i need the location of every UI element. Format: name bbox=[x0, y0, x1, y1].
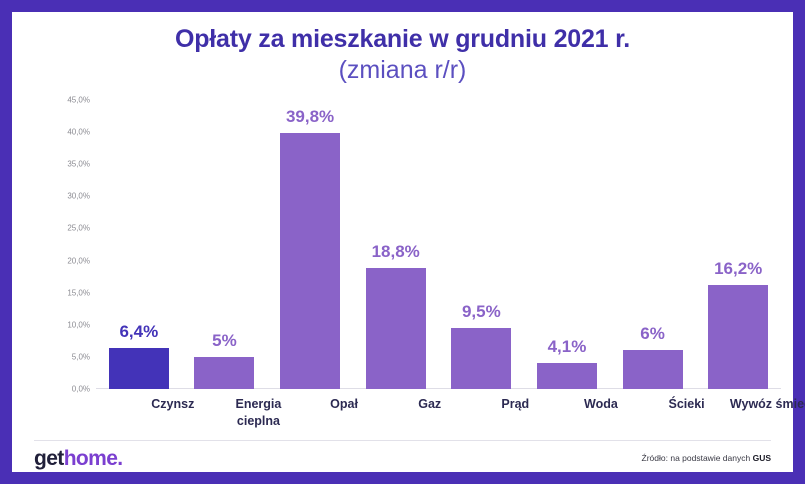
logo-text-get: get bbox=[34, 447, 64, 470]
y-axis: 0,0%5,0%10,0%15,0%20,0%25,0%30,0%35,0%40… bbox=[46, 100, 90, 389]
footer: gethome. Źródło: na podstawie danych GUS bbox=[12, 441, 793, 472]
bar-group: 6,4% bbox=[96, 100, 182, 389]
bar-value-label: 6% bbox=[640, 324, 665, 344]
x-axis-category-line: cieplna bbox=[206, 413, 312, 430]
bar[interactable] bbox=[366, 268, 426, 389]
source-note-org: GUS bbox=[753, 453, 771, 463]
chart-subtitle: (zmiana r/r) bbox=[12, 55, 793, 86]
y-axis-tick-label: 40,0% bbox=[46, 128, 90, 137]
bar[interactable] bbox=[623, 350, 683, 389]
bar-value-label: 9,5% bbox=[462, 302, 501, 322]
bar-value-label: 4,1% bbox=[548, 337, 587, 357]
chart-title-block: Opłaty za mieszkanie w grudniu 2021 r. (… bbox=[12, 24, 793, 85]
y-axis-tick-label: 20,0% bbox=[46, 256, 90, 265]
y-axis-tick-label: 30,0% bbox=[46, 192, 90, 201]
bar-value-label: 6,4% bbox=[119, 322, 158, 342]
gethome-logo[interactable]: gethome. bbox=[34, 447, 123, 471]
bar-value-label: 39,8% bbox=[286, 107, 334, 127]
x-axis-category-line: Wywóz śmieci bbox=[719, 396, 805, 413]
bar-group: 16,2% bbox=[695, 100, 781, 389]
bar-group: 5% bbox=[182, 100, 268, 389]
bars-container: 6,4%5%39,8%18,8%9,5%4,1%6%16,2% bbox=[96, 100, 781, 389]
chart-plot-area: 0,0%5,0%10,0%15,0%20,0%25,0%30,0%35,0%40… bbox=[46, 100, 781, 400]
y-axis-tick-label: 35,0% bbox=[46, 160, 90, 169]
bar[interactable] bbox=[451, 328, 511, 389]
bar-group: 4,1% bbox=[524, 100, 610, 389]
bar-value-label: 5% bbox=[212, 331, 237, 351]
y-axis-tick-label: 45,0% bbox=[46, 96, 90, 105]
bar-value-label: 18,8% bbox=[372, 242, 420, 262]
bar-group: 9,5% bbox=[439, 100, 525, 389]
y-axis-tick-label: 5,0% bbox=[46, 352, 90, 361]
page-title: Opłaty za mieszkanie w grudniu 2021 r. bbox=[12, 24, 793, 55]
logo-text-home: home. bbox=[64, 447, 123, 470]
bar-group: 18,8% bbox=[353, 100, 439, 389]
bar[interactable] bbox=[109, 348, 169, 389]
bar[interactable] bbox=[708, 285, 768, 389]
bar-group: 6% bbox=[610, 100, 696, 389]
chart-card: Opłaty za mieszkanie w grudniu 2021 r. (… bbox=[12, 12, 793, 472]
y-axis-tick-label: 25,0% bbox=[46, 224, 90, 233]
source-note: Źródło: na podstawie danych GUS bbox=[642, 453, 771, 463]
bar[interactable] bbox=[280, 133, 340, 389]
bar[interactable] bbox=[537, 363, 597, 389]
x-axis-category-label: Wywóz śmieci bbox=[719, 396, 805, 413]
y-axis-tick-label: 10,0% bbox=[46, 320, 90, 329]
source-note-prefix: Źródło: na podstawie danych bbox=[642, 453, 753, 463]
y-axis-tick-label: 15,0% bbox=[46, 288, 90, 297]
bar-group: 39,8% bbox=[267, 100, 353, 389]
bar[interactable] bbox=[194, 357, 254, 389]
bar-value-label: 16,2% bbox=[714, 259, 762, 279]
y-axis-tick-label: 0,0% bbox=[46, 385, 90, 394]
